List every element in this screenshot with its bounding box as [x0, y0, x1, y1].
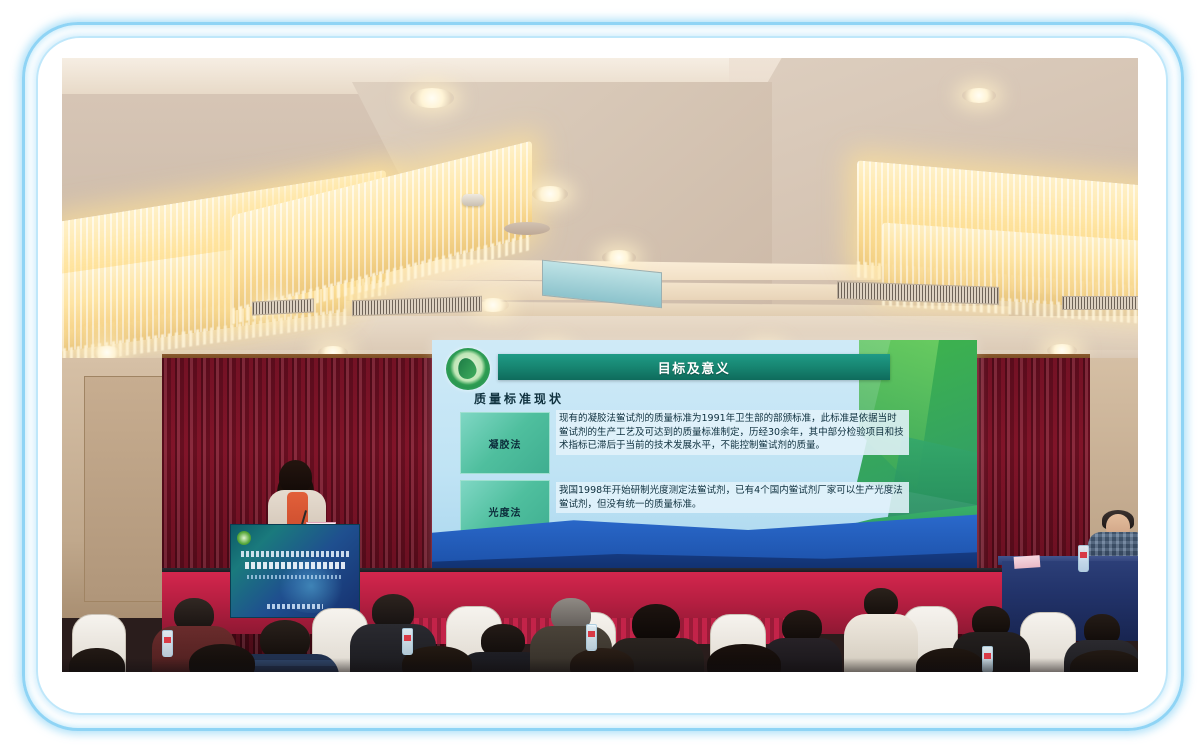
- water-bottle: [162, 630, 173, 657]
- podium-logo-icon: [237, 531, 251, 545]
- downlight-icon: [532, 186, 568, 202]
- slide-row-tag-gel: 凝胶法: [460, 412, 550, 474]
- smoke-detector-icon: [462, 194, 484, 206]
- screenshot-root: 目标及意义 质量标准现状 凝胶法 现有的凝胶法鲎试剂的质量标准为1991年卫生部…: [0, 0, 1200, 747]
- slide-logo-icon: [446, 348, 490, 390]
- downlight-icon: [962, 88, 996, 103]
- slide-tag-label: 凝胶法: [489, 436, 522, 451]
- slide-title-bar: 目标及意义: [498, 354, 890, 380]
- slide-heading: 质量标准现状: [474, 390, 564, 407]
- water-bottle: [586, 624, 597, 651]
- table-papers: [1014, 555, 1041, 569]
- podium-banner: [230, 524, 360, 618]
- water-bottle: [1078, 545, 1089, 572]
- slide-tag-label: 光度法: [489, 504, 522, 519]
- slide-row-text-photometric: 我国1998年开始研制光度测定法鲎试剂，已有4个国内鲎试剂厂家可以生产光度法鲎试…: [556, 482, 909, 513]
- slide-title: 目标及意义: [658, 358, 731, 377]
- ceiling-diffuser-icon: [504, 222, 550, 235]
- slide-row-text-gel: 现有的凝胶法鲎试剂的质量标准为1991年卫生部的部颁标准，此标准是依据当时鲎试剂…: [556, 410, 909, 455]
- air-vent: [1062, 296, 1138, 310]
- conference-photo: 目标及意义 质量标准现状 凝胶法 现有的凝胶法鲎试剂的质量标准为1991年卫生部…: [62, 58, 1138, 672]
- downlight-icon: [410, 88, 454, 108]
- downlight-icon: [602, 250, 636, 265]
- speaker-hair: [279, 460, 312, 494]
- water-bottle: [402, 628, 413, 655]
- projection-screen: 目标及意义 质量标准现状 凝胶法 现有的凝胶法鲎试剂的质量标准为1991年卫生部…: [432, 340, 977, 572]
